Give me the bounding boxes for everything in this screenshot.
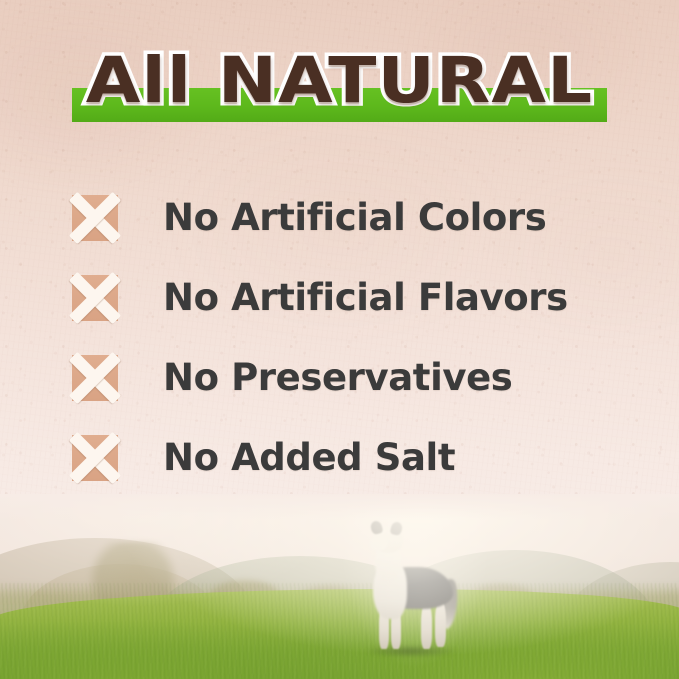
list-item: No Added Salt [72,418,632,498]
headline-banner: All NATURAL [0,44,679,136]
feature-label: No Added Salt [163,438,455,478]
dog-muzzle [369,537,387,551]
list-item: No Artificial Flavors [72,258,632,338]
x-mark-icon [72,275,118,321]
all-natural-feature-poster: All NATURAL No Artificial Colors No Arti… [0,0,679,679]
x-mark-icon [72,195,118,241]
grass-texture [0,583,679,679]
feature-label: No Artificial Colors [163,198,546,238]
list-item: No Preservatives [72,338,632,418]
dog-subject [355,521,461,655]
list-item: No Artificial Colors [72,178,632,258]
x-mark-icon [72,435,118,481]
page-title: All NATURAL [0,44,679,118]
feature-label: No Preservatives [163,358,512,398]
dog-leg [435,601,446,647]
feature-list: No Artificial Colors No Artificial Flavo… [72,178,632,498]
feature-label: No Artificial Flavors [163,278,568,318]
landscape-photo [0,494,679,679]
dog-leg [421,603,432,649]
x-mark-icon [72,355,118,401]
